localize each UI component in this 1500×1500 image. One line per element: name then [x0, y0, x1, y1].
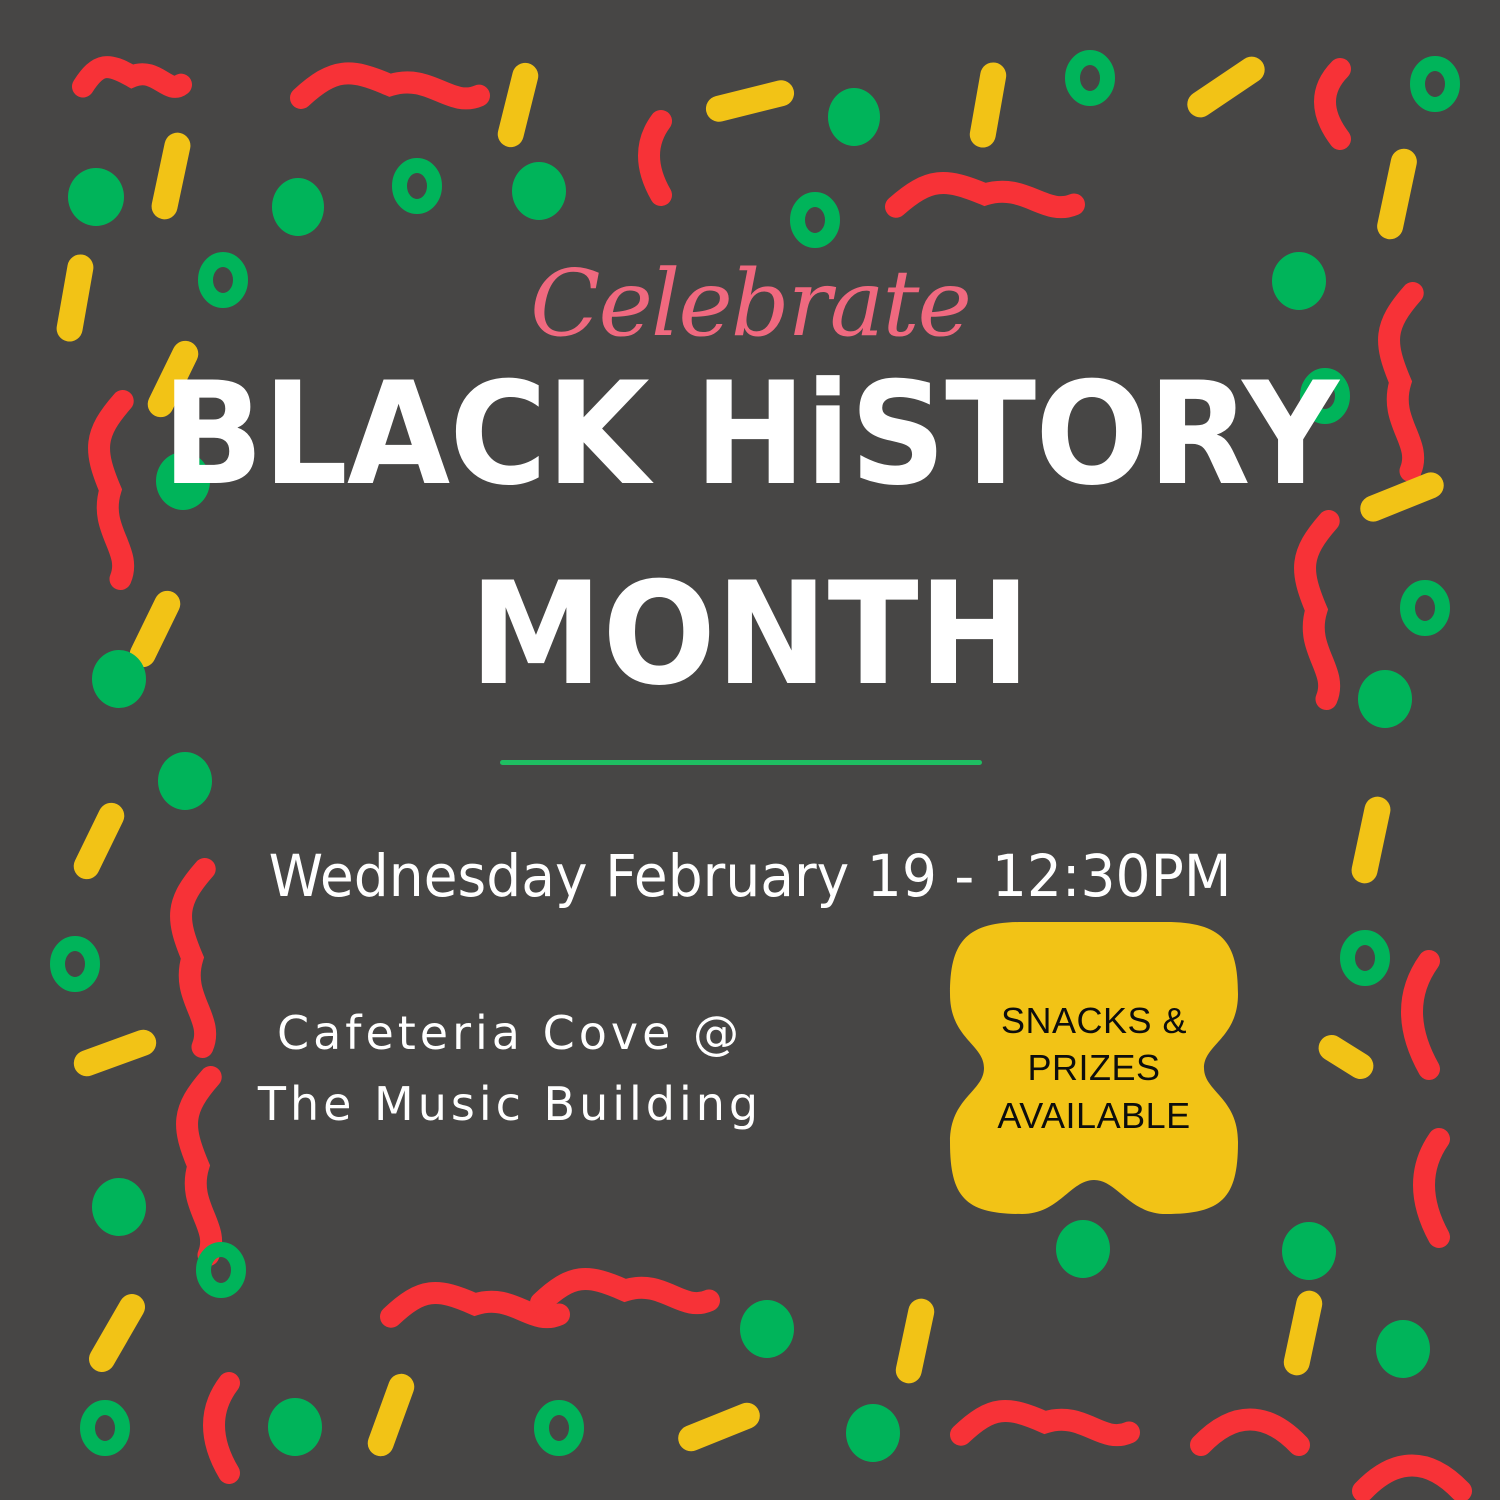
badge-line-2: PRIZES [1027, 1044, 1160, 1092]
celebrate-script-text: Celebrate [0, 258, 1500, 350]
badge-line-3: AVAILABLE [997, 1092, 1190, 1140]
snacks-prizes-badge: SNACKS & PRIZES AVAILABLE [948, 920, 1240, 1216]
badge-text-stack: SNACKS & PRIZES AVAILABLE [948, 920, 1240, 1216]
venue-line-1: Cafeteria Cove @ [120, 998, 900, 1069]
poster-canvas: Celebrate BLACK HiSTORY MONTH Wednesday … [0, 0, 1500, 1500]
event-venue: Cafeteria Cove @ The Music Building [120, 998, 900, 1141]
poster-content: Celebrate BLACK HiSTORY MONTH Wednesday … [0, 0, 1500, 1500]
page-title-line-1: BLACK HiSTORY [45, 370, 1455, 501]
venue-line-2: The Music Building [120, 1069, 900, 1140]
badge-line-1: SNACKS & [1001, 997, 1187, 1045]
page-title-line-2: MONTH [45, 570, 1455, 701]
green-divider-rule [500, 760, 982, 765]
event-date-time: Wednesday February 19 - 12:30PM [38, 845, 1463, 909]
